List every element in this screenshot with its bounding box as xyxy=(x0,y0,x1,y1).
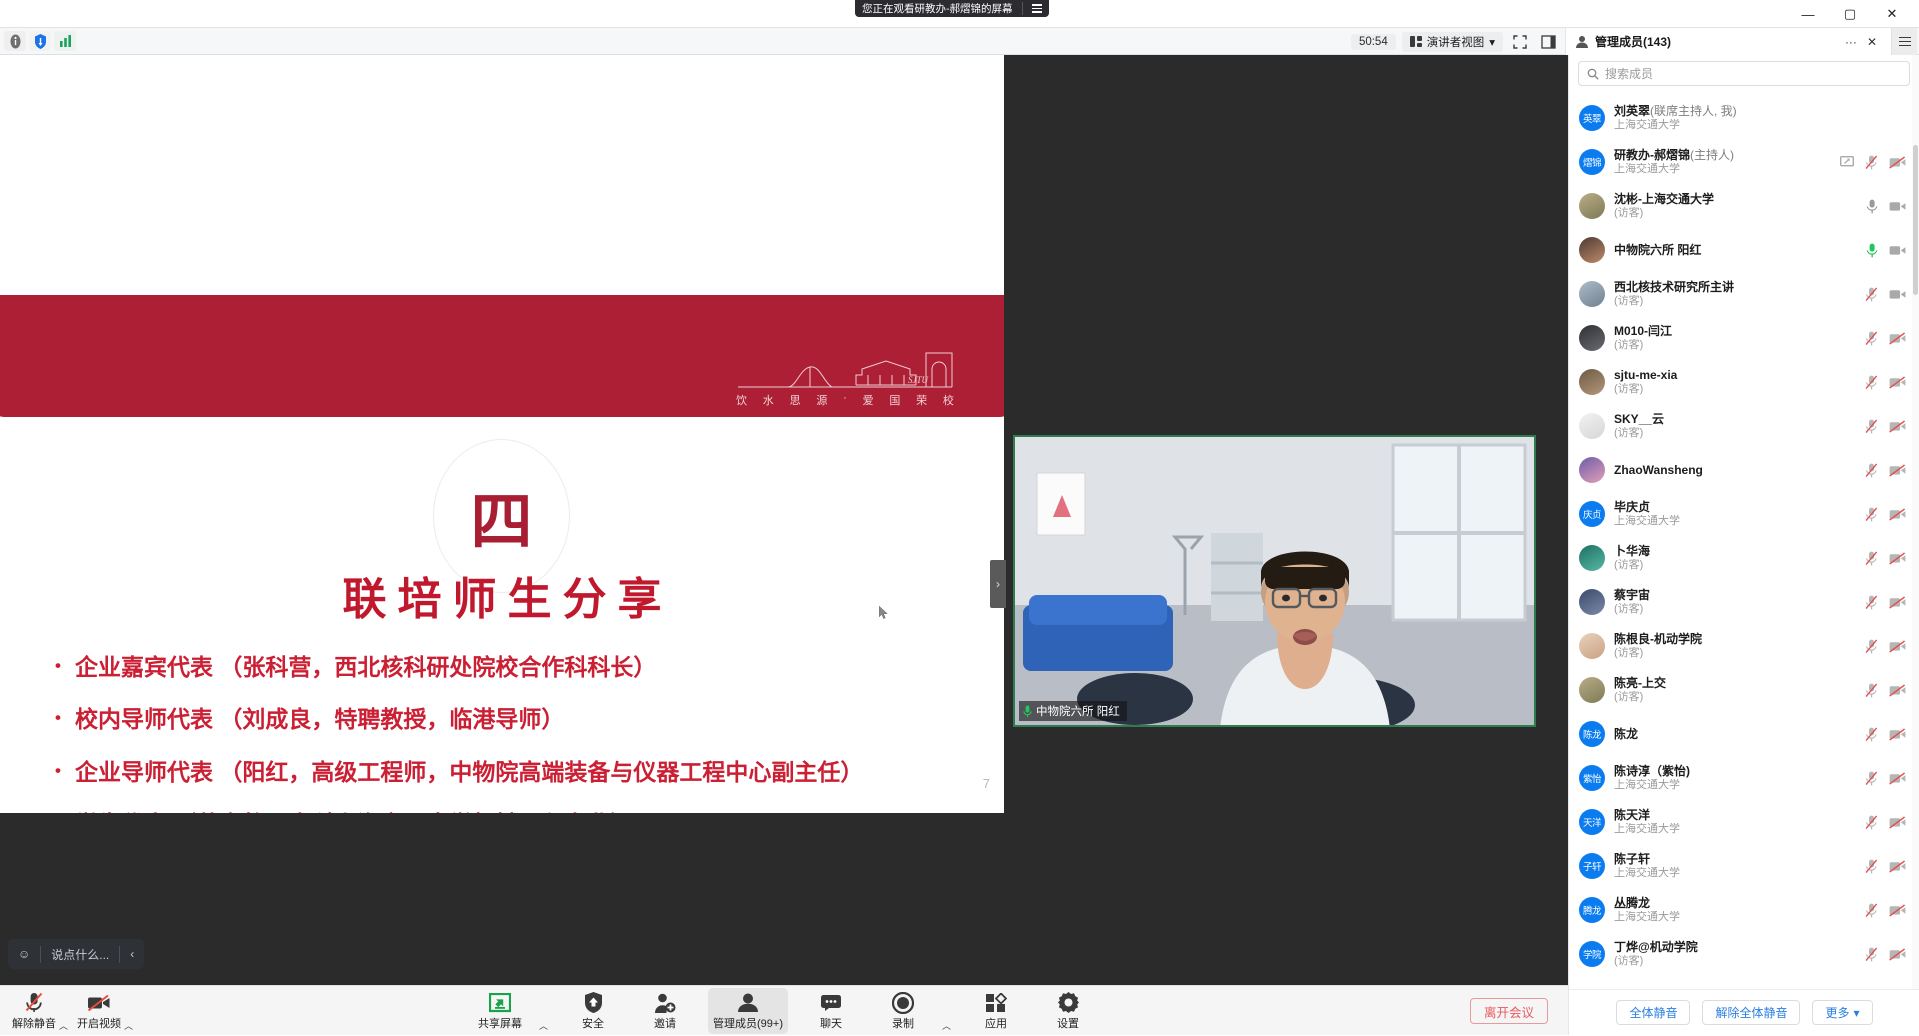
search-participants-box[interactable]: 搜索成员 xyxy=(1578,61,1910,86)
mic-muted-icon[interactable] xyxy=(1865,551,1878,566)
participant-row[interactable]: sjtu-me-xia(访客) xyxy=(1569,360,1919,404)
participant-names: M010-闫江(访客) xyxy=(1614,324,1856,352)
participant-name: 毕庆贞 xyxy=(1614,500,1856,515)
participant-org: (访客) xyxy=(1614,295,1856,308)
mic-muted-icon[interactable] xyxy=(1865,771,1878,786)
record-options-chevron[interactable]: ︿ xyxy=(942,1019,951,1032)
camera-off-icon[interactable] xyxy=(1889,728,1906,741)
camera-off-icon[interactable] xyxy=(1889,332,1906,345)
participant-role: (联席主持人, 我) xyxy=(1650,104,1737,118)
settings-label: 设置 xyxy=(1057,1015,1079,1031)
participant-org: (访客) xyxy=(1614,383,1856,396)
participant-row[interactable]: 庆贞毕庆贞上海交通大学 xyxy=(1569,492,1919,536)
participant-name: ZhaoWansheng xyxy=(1614,463,1856,478)
avatar: 腾龙 xyxy=(1579,897,1605,923)
panel-more-button[interactable]: ··· xyxy=(1845,35,1857,49)
camera-off-icon[interactable] xyxy=(1889,684,1906,697)
invite-button[interactable]: 邀请 xyxy=(636,988,694,1034)
participant-status-icons xyxy=(1865,859,1910,874)
slide-header-band: SJTU 饮 水 思 源 · 爱 国 荣 校 xyxy=(0,295,1004,417)
avatar xyxy=(1579,457,1605,483)
toolbar-center-group: 共享屏幕 ︿ 安全 邀请 管理成员(99+) 聊天 xyxy=(0,986,1568,1036)
avatar xyxy=(1579,413,1605,439)
participant-org: 上海交通大学 xyxy=(1614,911,1856,924)
participant-name: 陈龙 xyxy=(1614,727,1856,742)
speaker-view-icon xyxy=(1410,36,1422,47)
participant-row[interactable]: 紫怡陈诗淳（紫怡)上海交通大学 xyxy=(1569,756,1919,800)
camera-off-icon[interactable] xyxy=(1889,376,1906,389)
screen-share-banner-text: 您正在观看研教办-郝熠锦的屏幕 xyxy=(862,1,1013,16)
participant-org: (访客) xyxy=(1614,955,1856,968)
slide-bullet-list: • 企业嘉宾代表 （张科营，西北核科研处院校合作科科长） • 校内导师代表 （刘… xyxy=(55,655,995,813)
participant-org: 上海交通大学 xyxy=(1614,779,1856,792)
security-label: 安全 xyxy=(582,1015,604,1031)
participant-status-icons xyxy=(1865,727,1910,742)
camera-on-icon[interactable] xyxy=(1889,200,1906,213)
share-screen-button[interactable]: 共享屏幕 xyxy=(471,988,529,1034)
participant-org: 上海交通大学 xyxy=(1614,119,1897,132)
apps-label: 应用 xyxy=(985,1015,1007,1031)
participant-name: 陈亮-上交 xyxy=(1614,676,1856,691)
participant-name: 刘英翠(联席主持人, 我) xyxy=(1614,104,1897,119)
share-screen-label: 共享屏幕 xyxy=(478,1015,522,1031)
camera-off-icon[interactable] xyxy=(1889,640,1906,653)
camera-off-icon[interactable] xyxy=(1889,816,1906,829)
apps-icon xyxy=(985,992,1007,1014)
participant-name: 丁烨@机动学院 xyxy=(1614,940,1856,955)
participant-status-icons xyxy=(1865,771,1910,786)
split-view-icon[interactable] xyxy=(1537,32,1559,52)
mic-muted-icon[interactable] xyxy=(1865,375,1878,390)
motto-char: 荣 xyxy=(916,392,927,408)
avatar xyxy=(1579,677,1605,703)
chevron-down-icon: ▾ xyxy=(1489,35,1495,49)
participant-name: 陈子轩 xyxy=(1614,852,1856,867)
video-frame xyxy=(1015,437,1536,727)
participant-status-icons xyxy=(1865,375,1910,390)
participant-names: 丁烨@机动学院(访客) xyxy=(1614,940,1856,968)
meeting-timer: 50:54 xyxy=(1351,34,1396,50)
participant-row[interactable]: 陈亮-上交(访客) xyxy=(1569,668,1919,712)
avatar xyxy=(1579,237,1605,263)
participant-names: 研教办-郝熠锦(主持人)上海交通大学 xyxy=(1614,148,1831,176)
apps-button[interactable]: 应用 xyxy=(967,988,1025,1034)
speaker-video-tile[interactable]: 中物院六所 阳红 xyxy=(1013,435,1536,727)
avatar: 英翠 xyxy=(1579,105,1605,131)
quick-chat-bar[interactable]: ☺ 说点什么... ‹ xyxy=(8,939,144,969)
avatar xyxy=(1579,193,1605,219)
camera-off-icon[interactable] xyxy=(1889,904,1906,917)
mic-muted-icon[interactable] xyxy=(1865,903,1878,918)
participant-names: 沈彬-上海交通大学(访客) xyxy=(1614,192,1857,220)
avatar xyxy=(1579,589,1605,615)
mic-muted-icon[interactable] xyxy=(1865,815,1878,830)
motto-char: 源 xyxy=(816,392,827,408)
mic-muted-icon[interactable] xyxy=(1865,595,1878,610)
participants-more-button[interactable]: 更多 ▾ xyxy=(1812,1000,1872,1025)
participant-org: 上海交通大学 xyxy=(1614,163,1831,176)
participant-names: 丛腾龙上海交通大学 xyxy=(1614,896,1856,924)
motto-char: · xyxy=(843,392,847,408)
participant-row[interactable]: 陈根良-机动学院(访客) xyxy=(1569,624,1919,668)
participant-org: (访客) xyxy=(1614,207,1857,220)
panel-menu-icon[interactable] xyxy=(1891,28,1917,55)
participant-row[interactable]: SKY__云(访客) xyxy=(1569,404,1919,448)
participant-status-icons xyxy=(1865,551,1910,566)
gear-icon xyxy=(1058,992,1079,1014)
record-icon xyxy=(892,992,914,1014)
invite-label: 邀请 xyxy=(654,1015,676,1031)
share-screen-icon xyxy=(489,992,511,1014)
participant-name: SKY__云 xyxy=(1614,412,1856,427)
window-controls: — ▢ ✕ xyxy=(1787,2,1913,26)
participants-panel-title: 管理成员(143) xyxy=(1595,33,1671,50)
mic-muted-icon[interactable] xyxy=(1865,507,1878,522)
mic-muted-icon[interactable] xyxy=(1865,727,1878,742)
scrollbar-thumb[interactable] xyxy=(1913,145,1918,295)
banner-divider xyxy=(1022,2,1023,15)
quick-chat-input[interactable]: 说点什么... xyxy=(41,939,119,969)
record-button[interactable]: 录制 xyxy=(874,988,932,1034)
participant-row[interactable]: 学院丁烨@机动学院(访客) xyxy=(1569,932,1919,976)
invite-person-icon xyxy=(654,992,676,1014)
search-placeholder: 搜索成员 xyxy=(1605,65,1653,82)
participant-names: 陈龙 xyxy=(1614,727,1856,742)
settings-button[interactable]: 设置 xyxy=(1039,988,1097,1034)
motto-char: 校 xyxy=(943,392,954,408)
motto-char: 国 xyxy=(889,392,900,408)
participant-row[interactable]: M010-闫江(访客) xyxy=(1569,316,1919,360)
participant-names: 陈根良-机动学院(访客) xyxy=(1614,632,1856,660)
slide-bullet: • 企业嘉宾代表 （张科营，西北核科研处院校合作科科长） xyxy=(55,655,995,680)
participant-name: sjtu-me-xia xyxy=(1614,368,1856,383)
security-button[interactable]: 安全 xyxy=(564,988,622,1034)
slide-bullet-text: 企业导师代表 （阳红，高级工程师，中物院高端装备与仪器工程中心副主任） xyxy=(75,760,863,785)
participant-org: (访客) xyxy=(1614,647,1856,660)
participant-status-icons xyxy=(1865,683,1910,698)
search-wrapper: 搜索成员 xyxy=(1569,55,1919,91)
share-options-chevron[interactable]: ︿ xyxy=(539,1019,548,1032)
participant-row[interactable]: 熠锦研教办-郝熠锦(主持人)上海交通大学 xyxy=(1569,140,1919,184)
screen-share-icon[interactable] xyxy=(1840,156,1854,168)
slide-bullet-text: 企业嘉宾代表 （张科营，西北核科研处院校合作科科长） xyxy=(75,655,656,680)
avatar xyxy=(1579,633,1605,659)
camera-off-icon[interactable] xyxy=(1889,156,1906,169)
mic-muted-icon[interactable] xyxy=(1865,463,1878,478)
record-label: 录制 xyxy=(892,1015,914,1031)
participant-names: 刘英翠(联席主持人, 我)上海交通大学 xyxy=(1614,104,1897,132)
participant-name: M010-闫江 xyxy=(1614,324,1856,339)
mic-muted-icon[interactable] xyxy=(1865,639,1878,654)
slide-section-number-text: 四 xyxy=(470,471,532,561)
camera-off-icon[interactable] xyxy=(1889,464,1906,477)
camera-on-icon[interactable] xyxy=(1889,288,1906,301)
bullet-dot: • xyxy=(55,760,61,782)
participant-name: 中物院六所 阳红 xyxy=(1614,243,1857,258)
participants-icon xyxy=(1575,35,1589,48)
participant-row[interactable]: 卜华海(访客) xyxy=(1569,536,1919,580)
meeting-stage: SJTU 饮 水 思 源 · 爱 国 荣 校 四 联培师生分享 • 企业嘉宾代表… xyxy=(0,55,1568,985)
participant-name: 陈根良-机动学院 xyxy=(1614,632,1856,647)
mic-muted-icon[interactable] xyxy=(1865,419,1878,434)
participant-name: 卜华海 xyxy=(1614,544,1856,559)
camera-off-icon[interactable] xyxy=(1889,508,1906,521)
chat-bubble-icon xyxy=(820,992,842,1014)
view-mode-selector[interactable]: 演讲者视图 ▾ xyxy=(1402,32,1503,52)
participant-status-icons xyxy=(1866,199,1910,214)
participant-org: 上海交通大学 xyxy=(1614,823,1856,836)
participant-row[interactable]: 蔡宇宙(访客) xyxy=(1569,580,1919,624)
search-icon xyxy=(1587,68,1599,80)
participant-row[interactable]: ZhaoWansheng xyxy=(1569,448,1919,492)
more-label: 更多 xyxy=(1825,1004,1849,1021)
participant-row[interactable]: 陈龙陈龙 xyxy=(1569,712,1919,756)
svg-text:SJTU: SJTU xyxy=(908,375,929,385)
participant-status-icons xyxy=(1865,903,1910,918)
mic-muted-icon[interactable] xyxy=(1865,287,1878,302)
slide-title: 联培师生分享 xyxy=(0,563,1004,627)
unmute-all-button[interactable]: 解除全体静音 xyxy=(1702,1000,1800,1025)
minimize-button[interactable]: — xyxy=(1787,2,1829,26)
slide-bullet: • 企业导师代表 （阳红，高级工程师，中物院高端装备与仪器工程中心副主任） xyxy=(55,760,995,785)
participant-status-icons xyxy=(1865,595,1910,610)
participant-status-icons xyxy=(1865,331,1910,346)
mic-on-icon[interactable] xyxy=(1866,199,1878,214)
participants-panel-header: 管理成员(143) ··· ✕ xyxy=(1565,28,1917,55)
slide-bullet-text: 学生代表 （范宜静，本科上海交通大学机械工程专业） xyxy=(75,812,633,813)
panel-close-button[interactable]: ✕ xyxy=(1867,35,1877,49)
leave-meeting-button[interactable]: 离开会议 xyxy=(1470,998,1548,1024)
participant-names: 卜华海(访客) xyxy=(1614,544,1856,572)
slide-bullet-text: 校内导师代表 （刘成良，特聘教授，临港导师） xyxy=(75,707,564,732)
participant-org: (访客) xyxy=(1614,603,1856,616)
meeting-top-controls: 50:54 演讲者视图 ▾ 管理成员(143) ··· ✕ xyxy=(959,28,1919,55)
security-shield-icon xyxy=(584,992,603,1014)
participant-row[interactable]: 沈彬-上海交通大学(访客) xyxy=(1569,184,1919,228)
participant-row[interactable]: 子轩陈子轩上海交通大学 xyxy=(1569,844,1919,888)
participant-name: 丛腾龙 xyxy=(1614,896,1856,911)
hamburger-icon[interactable] xyxy=(1032,4,1042,13)
mic-muted-icon[interactable] xyxy=(1865,331,1878,346)
participant-status-icons xyxy=(1865,463,1910,478)
maximize-button[interactable]: ▢ xyxy=(1829,2,1871,26)
avatar: 子轩 xyxy=(1579,853,1605,879)
mic-on-icon xyxy=(1023,705,1032,718)
participant-names: SKY__云(访客) xyxy=(1614,412,1856,440)
sjtu-motto: 饮 水 思 源 · 爱 国 荣 校 xyxy=(736,392,954,408)
motto-char: 水 xyxy=(763,392,774,408)
motto-char: 爱 xyxy=(863,392,874,408)
participant-status-icons xyxy=(1865,287,1910,302)
participant-names: 毕庆贞上海交通大学 xyxy=(1614,500,1856,528)
participant-names: 陈诗淳（紫怡)上海交通大学 xyxy=(1614,764,1856,792)
shared-screen-slide: SJTU 饮 水 思 源 · 爱 国 荣 校 四 联培师生分享 • 企业嘉宾代表… xyxy=(0,55,1004,813)
participant-org: (访客) xyxy=(1614,427,1856,440)
participant-names: 蔡宇宙(访客) xyxy=(1614,588,1856,616)
slide-bullet: • 校内导师代表 （刘成良，特聘教授，临港导师） xyxy=(55,707,995,732)
participants-scrollbar[interactable] xyxy=(1912,55,1919,1035)
avatar xyxy=(1579,325,1605,351)
participant-org: (访客) xyxy=(1614,559,1856,572)
participant-role: (主持人) xyxy=(1690,148,1734,162)
participants-icon xyxy=(737,992,759,1014)
participants-panel: 搜索成员 英翠刘英翠(联席主持人, 我)上海交通大学熠锦研教办-郝熠锦(主持人)… xyxy=(1568,55,1919,1035)
participant-row[interactable]: 英翠刘英翠(联席主持人, 我)上海交通大学 xyxy=(1569,96,1919,140)
mute-all-button[interactable]: 全体静音 xyxy=(1616,1000,1690,1025)
participant-names: 陈天洋上海交通大学 xyxy=(1614,808,1856,836)
participant-org: (访客) xyxy=(1614,339,1856,352)
camera-off-icon[interactable] xyxy=(1889,860,1906,873)
participant-org: 上海交通大学 xyxy=(1614,867,1856,880)
avatar xyxy=(1579,281,1605,307)
participant-names: sjtu-me-xia(访客) xyxy=(1614,368,1856,396)
info-icon[interactable] xyxy=(4,31,26,51)
mic-muted-icon[interactable] xyxy=(1865,155,1878,170)
participant-row[interactable]: 天洋陈天洋上海交通大学 xyxy=(1569,800,1919,844)
slide-page-number: 7 xyxy=(983,776,990,791)
chart-icon[interactable] xyxy=(54,31,76,51)
participant-names: 中物院六所 阳红 xyxy=(1614,243,1857,258)
camera-off-icon[interactable] xyxy=(1889,420,1906,433)
participant-name: 西北核技术研究所主讲 xyxy=(1614,280,1856,295)
participant-name: 陈天洋 xyxy=(1614,808,1856,823)
participant-status-icons xyxy=(1865,507,1910,522)
close-window-button[interactable]: ✕ xyxy=(1871,2,1913,26)
avatar: 天洋 xyxy=(1579,809,1605,835)
participant-status-icons xyxy=(1865,419,1910,434)
participants-button[interactable]: 管理成员(99+) xyxy=(708,988,788,1034)
video-name-label: 中物院六所 阳红 xyxy=(1019,701,1127,721)
mic-on-icon[interactable] xyxy=(1866,243,1878,258)
camera-off-icon[interactable] xyxy=(1889,772,1906,785)
participant-status-icons xyxy=(1865,947,1910,962)
camera-off-icon[interactable] xyxy=(1889,948,1906,961)
camera-off-icon[interactable] xyxy=(1889,596,1906,609)
avatar: 学院 xyxy=(1579,941,1605,967)
participants-panel-footer: 全体静音 解除全体静音 更多 ▾ xyxy=(1569,989,1919,1035)
participant-org: 上海交通大学 xyxy=(1614,515,1856,528)
camera-on-icon[interactable] xyxy=(1889,244,1906,257)
avatar: 紫怡 xyxy=(1579,765,1605,791)
shield-icon[interactable] xyxy=(29,31,51,51)
avatar: 熠锦 xyxy=(1579,149,1605,175)
chat-collapse-icon[interactable]: ‹ xyxy=(120,939,144,969)
participants-label: 管理成员(99+) xyxy=(713,1015,783,1031)
participant-name: 蔡宇宙 xyxy=(1614,588,1856,603)
participant-row[interactable]: 中物院六所 阳红 xyxy=(1569,228,1919,272)
slide-bullet: • 学生代表 （范宜静，本科上海交通大学机械工程专业） xyxy=(55,812,995,813)
participant-row[interactable]: 西北核技术研究所主讲(访客) xyxy=(1569,272,1919,316)
camera-off-icon[interactable] xyxy=(1889,552,1906,565)
avatar: 陈龙 xyxy=(1579,721,1605,747)
participant-row[interactable]: 腾龙丛腾龙上海交通大学 xyxy=(1569,888,1919,932)
chat-button[interactable]: 聊天 xyxy=(802,988,860,1034)
participant-status-icons xyxy=(1866,243,1910,258)
mic-muted-icon[interactable] xyxy=(1865,683,1878,698)
fullscreen-icon[interactable] xyxy=(1509,32,1531,52)
mic-muted-icon[interactable] xyxy=(1865,859,1878,874)
avatar: 庆贞 xyxy=(1579,501,1605,527)
bullet-dot: • xyxy=(55,812,61,813)
participant-names: 陈子轩上海交通大学 xyxy=(1614,852,1856,880)
avatar xyxy=(1579,369,1605,395)
chat-label: 聊天 xyxy=(820,1015,842,1031)
participant-names: ZhaoWansheng xyxy=(1614,463,1856,478)
bullet-dot: • xyxy=(55,707,61,729)
participant-org: (访客) xyxy=(1614,691,1856,704)
participant-name: 研教办-郝熠锦(主持人) xyxy=(1614,148,1831,163)
avatar xyxy=(1579,545,1605,571)
bullet-dot: • xyxy=(55,655,61,677)
emoji-icon[interactable]: ☺ xyxy=(8,939,40,969)
participant-status-icons xyxy=(1840,155,1910,170)
video-name-text: 中物院六所 阳红 xyxy=(1036,703,1120,719)
participant-names: 西北核技术研究所主讲(访客) xyxy=(1614,280,1856,308)
motto-char: 饮 xyxy=(736,392,747,408)
participant-name: 沈彬-上海交通大学 xyxy=(1614,192,1857,207)
view-mode-label: 演讲者视图 xyxy=(1427,34,1485,50)
motto-char: 思 xyxy=(790,392,801,408)
screen-share-banner: 您正在观看研教办-郝熠锦的屏幕 xyxy=(855,0,1049,17)
meeting-toolbar: 解除静音 ︿ 开启视频 ︿ 共享屏幕 ︿ 安全 xyxy=(0,985,1568,1035)
chevron-down-icon: ▾ xyxy=(1854,1006,1860,1020)
participant-name: 陈诗淳（紫怡) xyxy=(1614,764,1856,779)
next-slide-arrow[interactable]: › xyxy=(990,560,1006,608)
participant-status-icons xyxy=(1865,815,1910,830)
participants-list[interactable]: 英翠刘英翠(联席主持人, 我)上海交通大学熠锦研教办-郝熠锦(主持人)上海交通大… xyxy=(1569,96,1919,991)
participant-names: 陈亮-上交(访客) xyxy=(1614,676,1856,704)
participant-status-icons xyxy=(1865,639,1910,654)
mic-muted-icon[interactable] xyxy=(1865,947,1878,962)
